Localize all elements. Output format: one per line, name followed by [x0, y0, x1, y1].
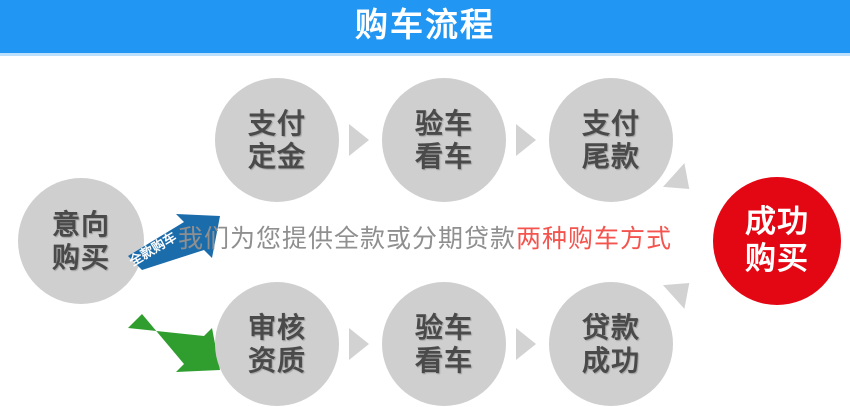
triangle-diagonal-icon-top [663, 163, 700, 201]
flow-node-top-1-line2: 定金 [248, 140, 306, 173]
center-caption-accent: 两种购车方式 [516, 225, 672, 253]
flow-node-bottom-2-line2: 看车 [415, 344, 473, 377]
flow-node-bottom-3-line1: 贷款 [582, 311, 640, 344]
flow-node-top-3-line1: 支付 [582, 107, 640, 140]
flow-node-bottom-2: 验车 看车 [382, 282, 506, 406]
center-caption-plain: 我们为您提供全款或分期贷款 [178, 225, 516, 253]
triangle-right-icon-top-1 [349, 124, 369, 156]
flow-node-bottom-1-line1: 审核 [248, 311, 306, 344]
flow-node-top-1: 支付 定金 [215, 78, 339, 202]
flow-node-bottom-1: 审核 资质 [215, 282, 339, 406]
triangle-right-icon-bottom-1 [349, 328, 369, 360]
flow-node-bottom-1-line2: 资质 [248, 344, 306, 377]
flow-node-bottom-3: 贷款 成功 [549, 282, 673, 406]
flow-node-top-1-line1: 支付 [248, 107, 306, 140]
triangle-right-icon-top-2 [516, 124, 536, 156]
flow-node-bottom-3-line2: 成功 [582, 344, 640, 377]
flow-node-top-3: 支付 尾款 [549, 78, 673, 202]
triangle-right-icon-bottom-2 [516, 328, 536, 360]
flow-node-top-3-line2: 尾款 [582, 140, 640, 173]
flow-node-top-2-line1: 验车 [415, 107, 473, 140]
flow-node-top-2-line2: 看车 [415, 140, 473, 173]
flow-diagram: 意向 购买 全款购车 分期购车 支付 定金 验车 看车 支付 [0, 56, 850, 407]
page-title: 购车流程 [0, 0, 850, 53]
arrow-down-right-icon [126, 314, 222, 372]
purchase-flow-infographic: 购车流程 意向 购买 全款购车 分期购车 支付 定金 验车 [0, 0, 850, 407]
flow-node-top-2: 验车 看车 [382, 78, 506, 202]
triangle-diagonal-icon-bottom [663, 271, 700, 309]
branch-arrow-installment [126, 314, 222, 372]
flow-node-bottom-2-line1: 验车 [415, 311, 473, 344]
center-caption: 我们为您提供全款或分期贷款两种购车方式 [0, 219, 850, 255]
